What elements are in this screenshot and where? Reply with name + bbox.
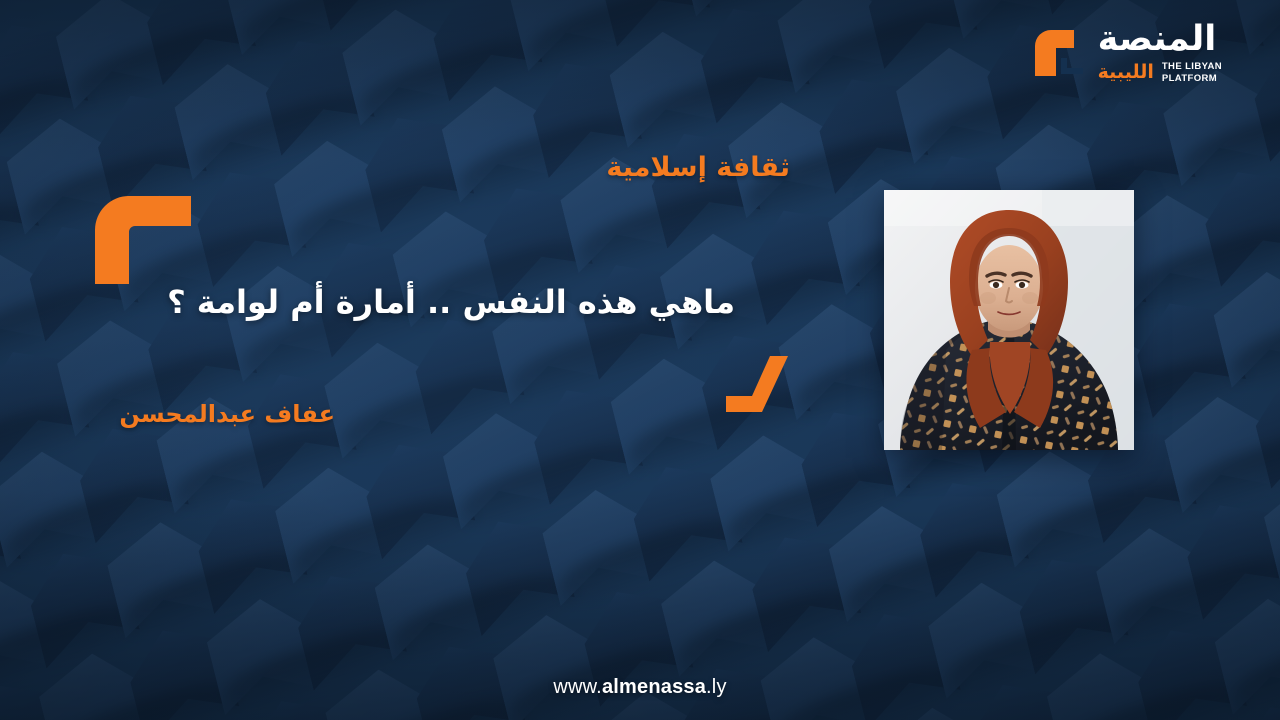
social-media-card: المنصة THE LIBYAN PLATFORM الليبية [0,0,1280,720]
footer-website-url[interactable]: www.almenassa.ly [0,676,1280,699]
url-name: almenassa [602,676,706,698]
url-prefix: www. [553,676,602,698]
brand-logo-english-line1: THE LIBYAN [1162,61,1222,73]
brand-logo-arabic-sub: الليبية [1098,63,1154,82]
url-suffix: .ly [706,676,727,698]
brand-logo[interactable]: المنصة THE LIBYAN PLATFORM الليبية [1025,22,1222,85]
brand-logo-text: المنصة THE LIBYAN PLATFORM الليبية [1098,22,1222,85]
category-label: ثقافة إسلامية [606,152,790,183]
author-portrait-photo [884,190,1134,450]
brand-logo-arabic: المنصة [1098,22,1217,57]
brand-logo-subtitle-row: THE LIBYAN PLATFORM الليبية [1098,61,1222,85]
author-name: عفاف عبدالمحسن [119,400,335,428]
brand-logo-english: THE LIBYAN PLATFORM [1162,61,1222,85]
brand-logo-english-line2: PLATFORM [1162,73,1217,85]
brand-mark-icon [1025,22,1089,84]
decorative-corner-small-icon [726,356,788,412]
article-title: ماهي هذه النفس .. أمارة أم لوامة ؟ [167,283,735,321]
decorative-hook-large-icon [95,196,191,284]
